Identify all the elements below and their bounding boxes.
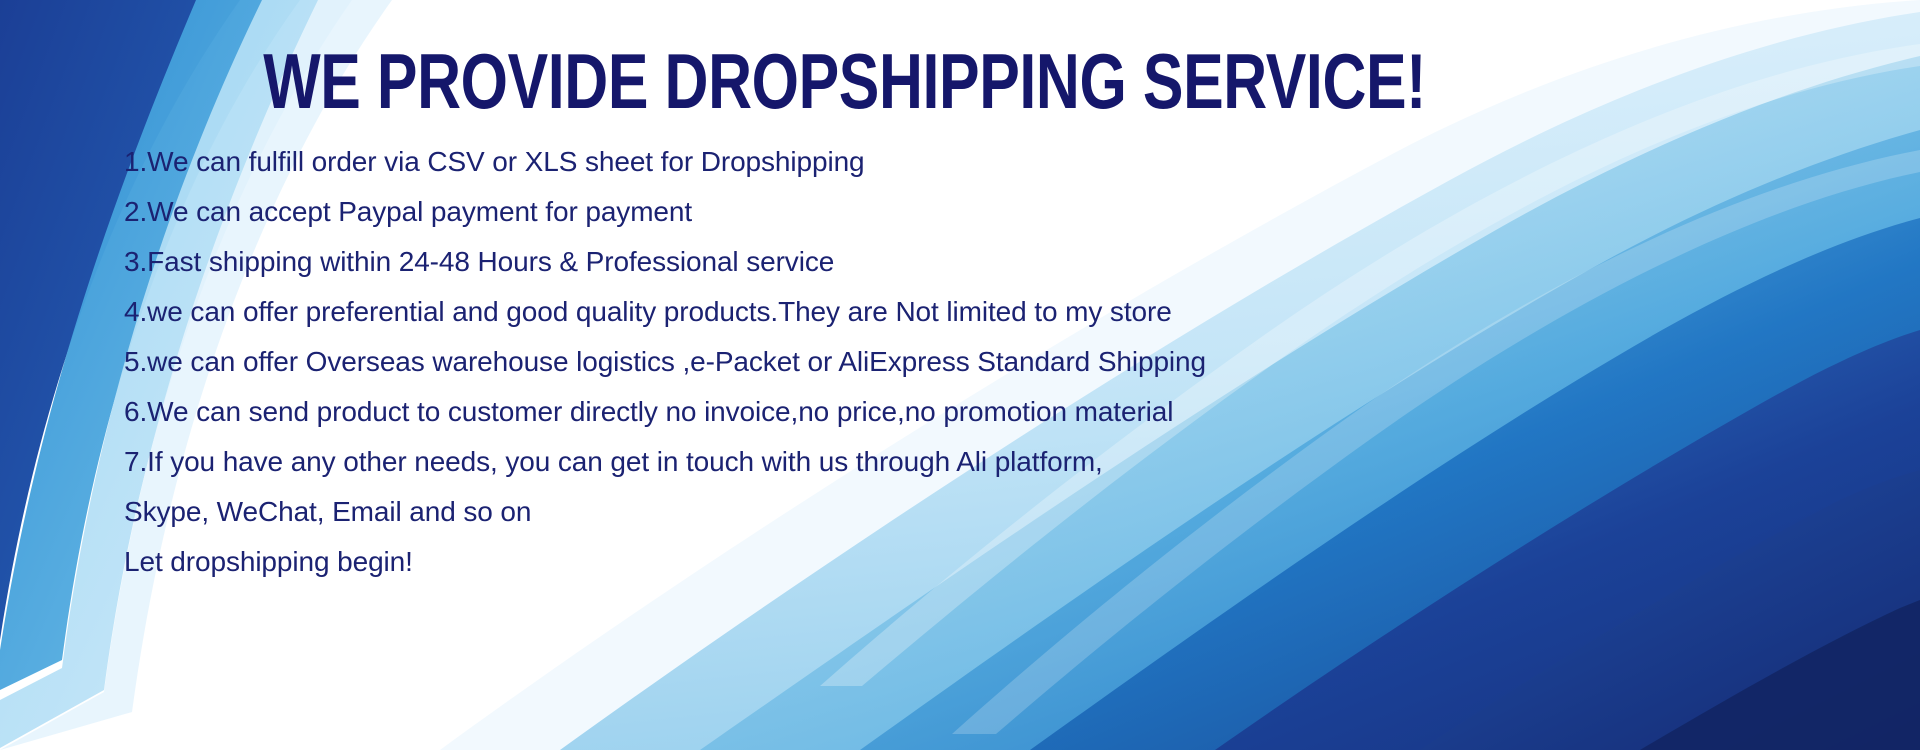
page-title: WE PROVIDE DROPSHIPPING SERVICE! [263, 42, 1137, 120]
list-item: 3.Fast shipping within 24-48 Hours & Pro… [124, 237, 1424, 287]
banner-content: WE PROVIDE DROPSHIPPING SERVICE! 1.We ca… [0, 0, 1920, 750]
list-item: Let dropshipping begin! [124, 537, 1424, 587]
service-bullet-list: 1.We can fulfill order via CSV or XLS sh… [124, 137, 1424, 587]
list-item: Skype, WeChat, Email and so on [124, 487, 1424, 537]
list-item: 7.If you have any other needs, you can g… [124, 437, 1424, 487]
list-item: 2.We can accept Paypal payment for payme… [124, 187, 1424, 237]
dropshipping-service-banner: WE PROVIDE DROPSHIPPING SERVICE! 1.We ca… [0, 0, 1920, 750]
list-item: 1.We can fulfill order via CSV or XLS sh… [124, 137, 1424, 187]
list-item: 5.we can offer Overseas warehouse logist… [124, 337, 1424, 387]
list-item: 6.We can send product to customer direct… [124, 387, 1424, 437]
list-item: 4.we can offer preferential and good qua… [124, 287, 1424, 337]
